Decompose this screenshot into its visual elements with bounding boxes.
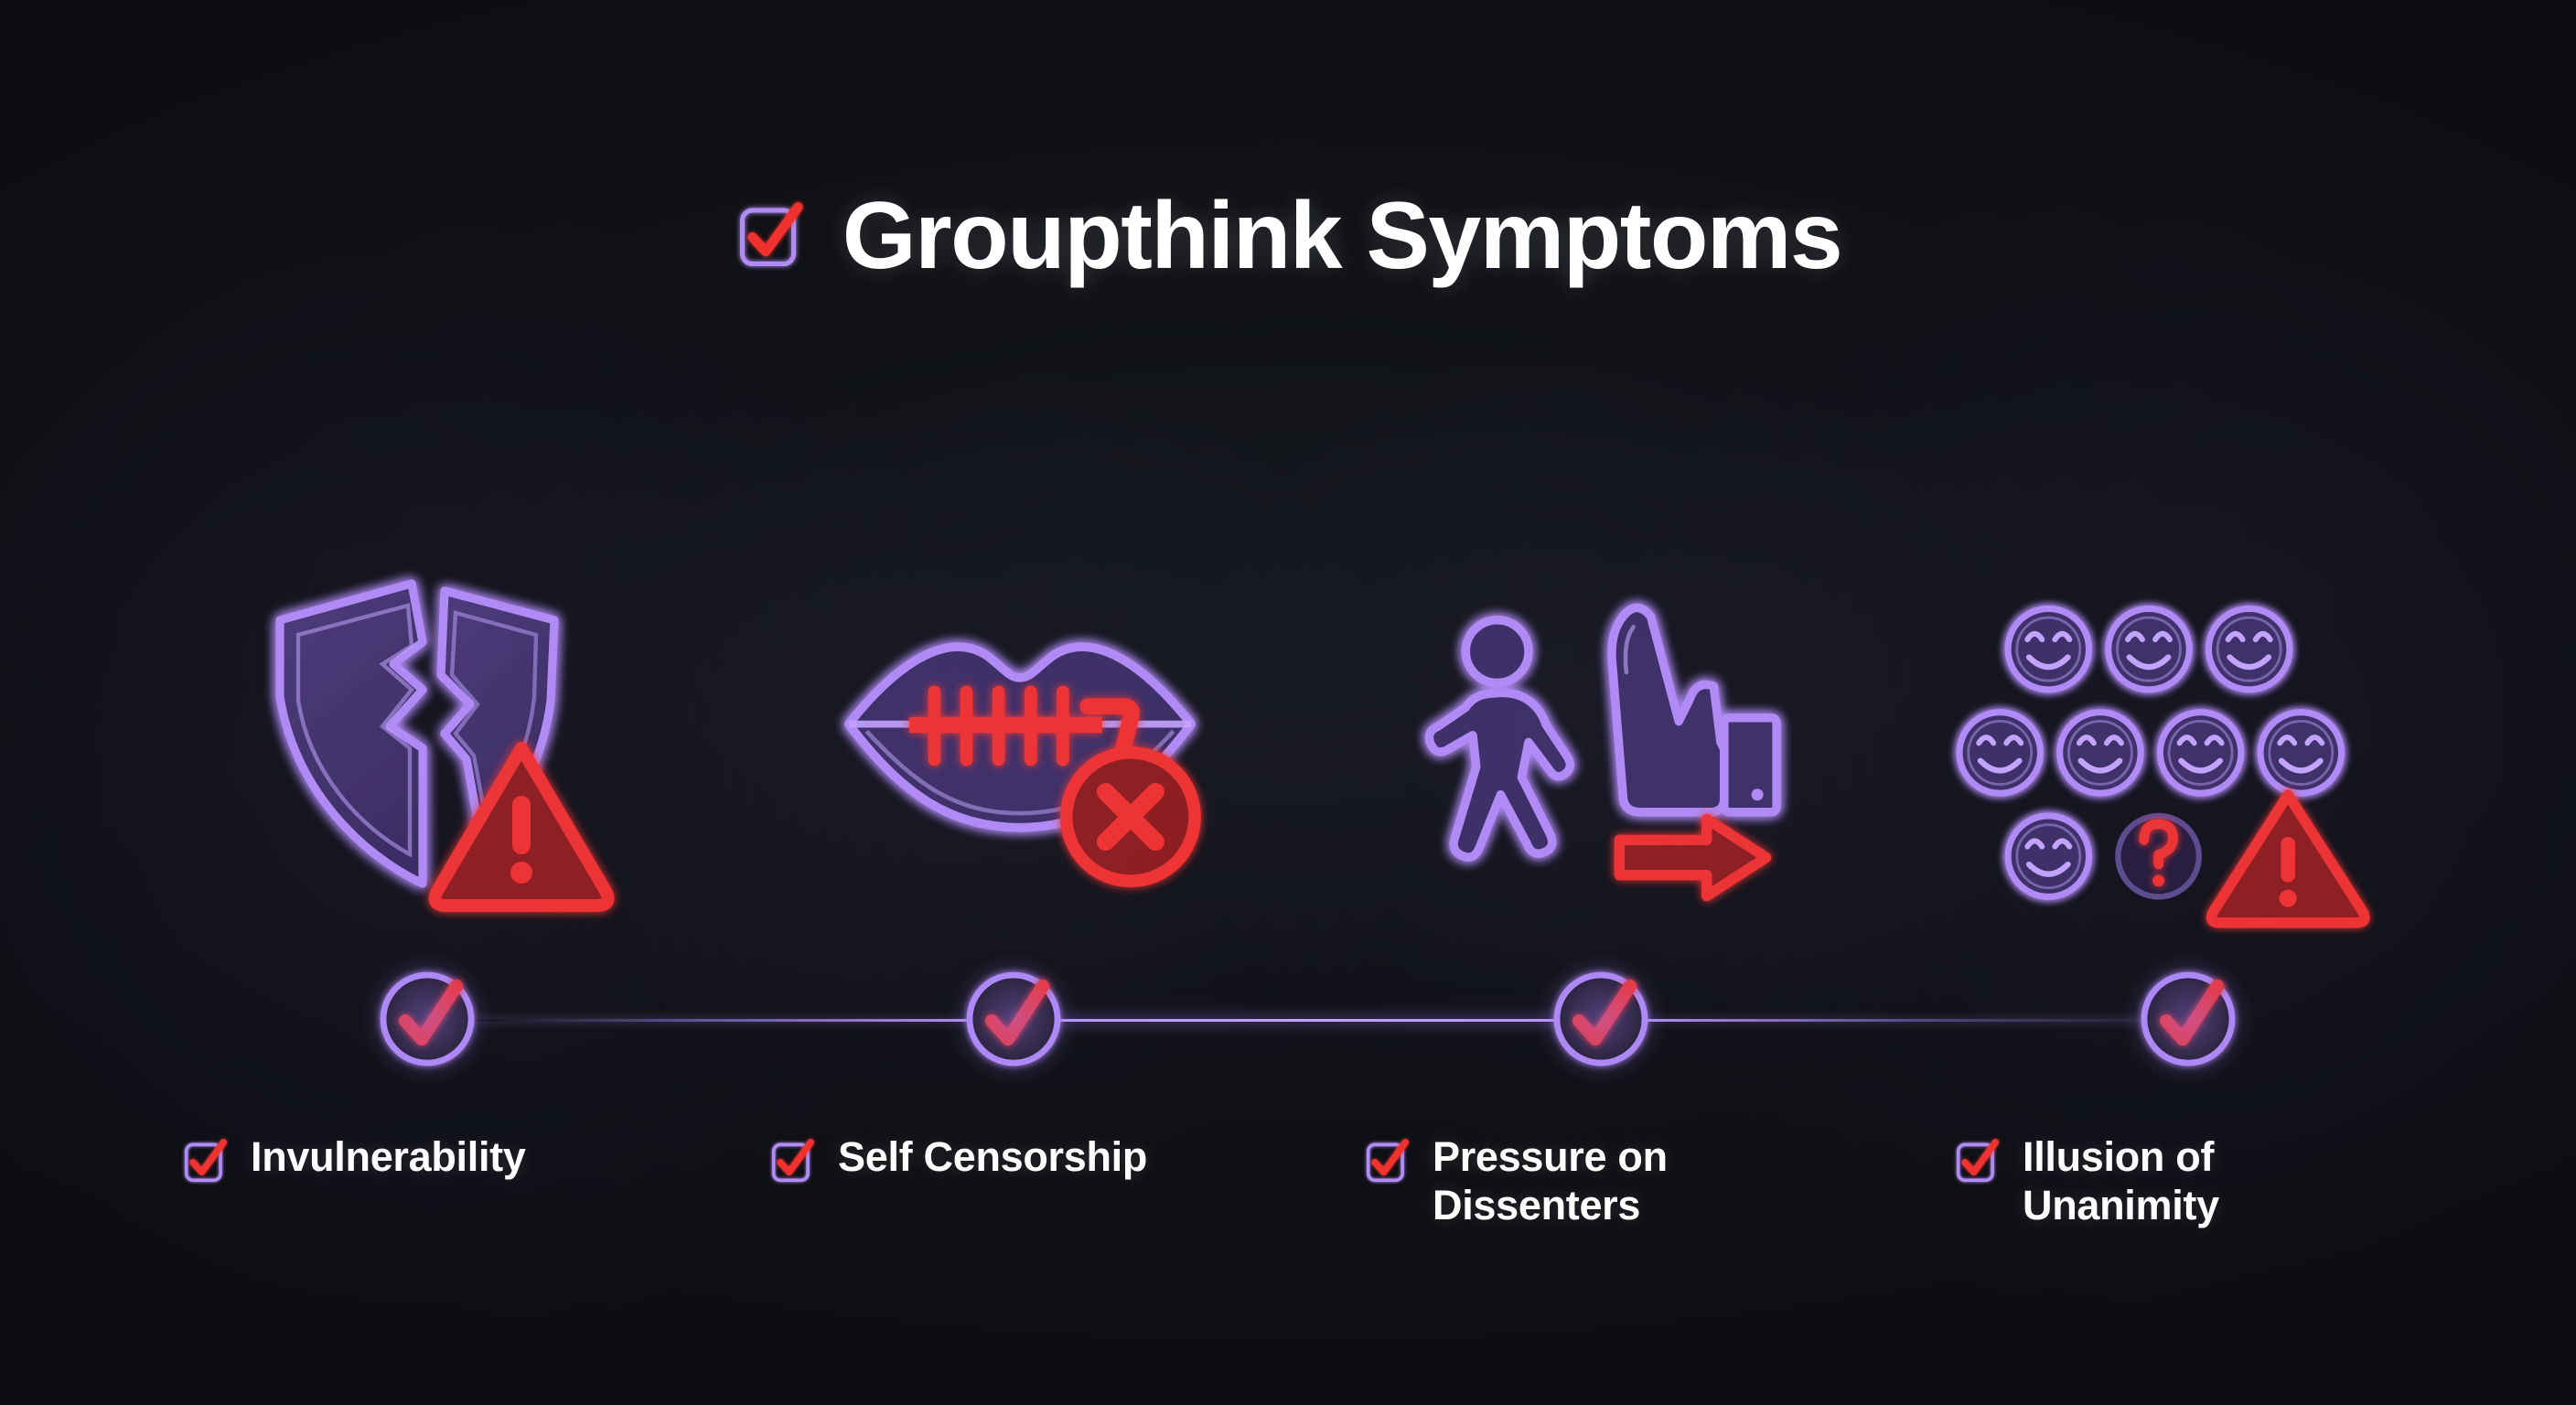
timeline xyxy=(0,951,2576,1089)
timeline-node-2[interactable] xyxy=(955,960,1072,1078)
checkbox-checked-icon xyxy=(1363,1138,1411,1185)
page-header: Groupthink Symptoms xyxy=(0,188,2576,284)
icon-broken-shield-warning xyxy=(229,540,631,924)
warning-triangle-icon xyxy=(435,748,608,906)
icon-zipped-lips-blocked xyxy=(819,540,1221,924)
warning-triangle-icon xyxy=(2211,795,2364,923)
legend-item-pressure-on-dissenters[interactable]: Pressure on Dissenters xyxy=(1363,1132,1729,1229)
node-glow xyxy=(944,949,1083,1089)
timeline-node-1[interactable] xyxy=(369,960,486,1078)
checkbox-checked-icon xyxy=(768,1138,816,1185)
walking-person-icon xyxy=(1429,620,1570,857)
red-arrow-right-icon xyxy=(1619,819,1766,896)
timeline-connector-0 xyxy=(476,1019,970,1022)
page-title: Groupthink Symptoms xyxy=(843,188,1841,284)
legend-label: Self Censorship xyxy=(838,1132,1147,1181)
x-circle-icon xyxy=(1067,753,1195,881)
icon-smiley-grid-question-warning xyxy=(1980,540,2401,924)
node-glow xyxy=(358,949,497,1089)
legend-item-illusion-of-unanimity[interactable]: Illusion of Unanimity xyxy=(1953,1132,2319,1229)
legend-label: Invulnerability xyxy=(251,1132,526,1181)
checkbox-checked-icon xyxy=(735,200,806,272)
shield-cracked-left xyxy=(280,584,423,884)
legend-label: Pressure on Dissenters xyxy=(1433,1132,1729,1229)
checkbox-checked-icon xyxy=(181,1138,229,1185)
timeline-connector-2 xyxy=(1647,1019,2145,1022)
timeline-node-3[interactable] xyxy=(1542,960,1659,1078)
node-glow xyxy=(1531,949,1670,1089)
legend-item-invulnerability[interactable]: Invulnerability xyxy=(181,1132,611,1185)
legend-item-self-censorship[interactable]: Self Censorship xyxy=(768,1132,1198,1185)
question-circle-icon xyxy=(2118,816,2198,896)
checkbox-checked-icon xyxy=(1953,1138,2001,1185)
timeline-node-4[interactable] xyxy=(2130,960,2247,1078)
legend-label: Illusion of Unanimity xyxy=(2023,1132,2319,1229)
icon-hand-pushing-person xyxy=(1404,540,1807,924)
pushing-hand-icon xyxy=(1612,607,1776,811)
infographic-canvas: Groupthink Symptoms xyxy=(0,0,2576,1405)
timeline-connector-1 xyxy=(1057,1019,1560,1022)
node-glow xyxy=(2119,949,2258,1089)
